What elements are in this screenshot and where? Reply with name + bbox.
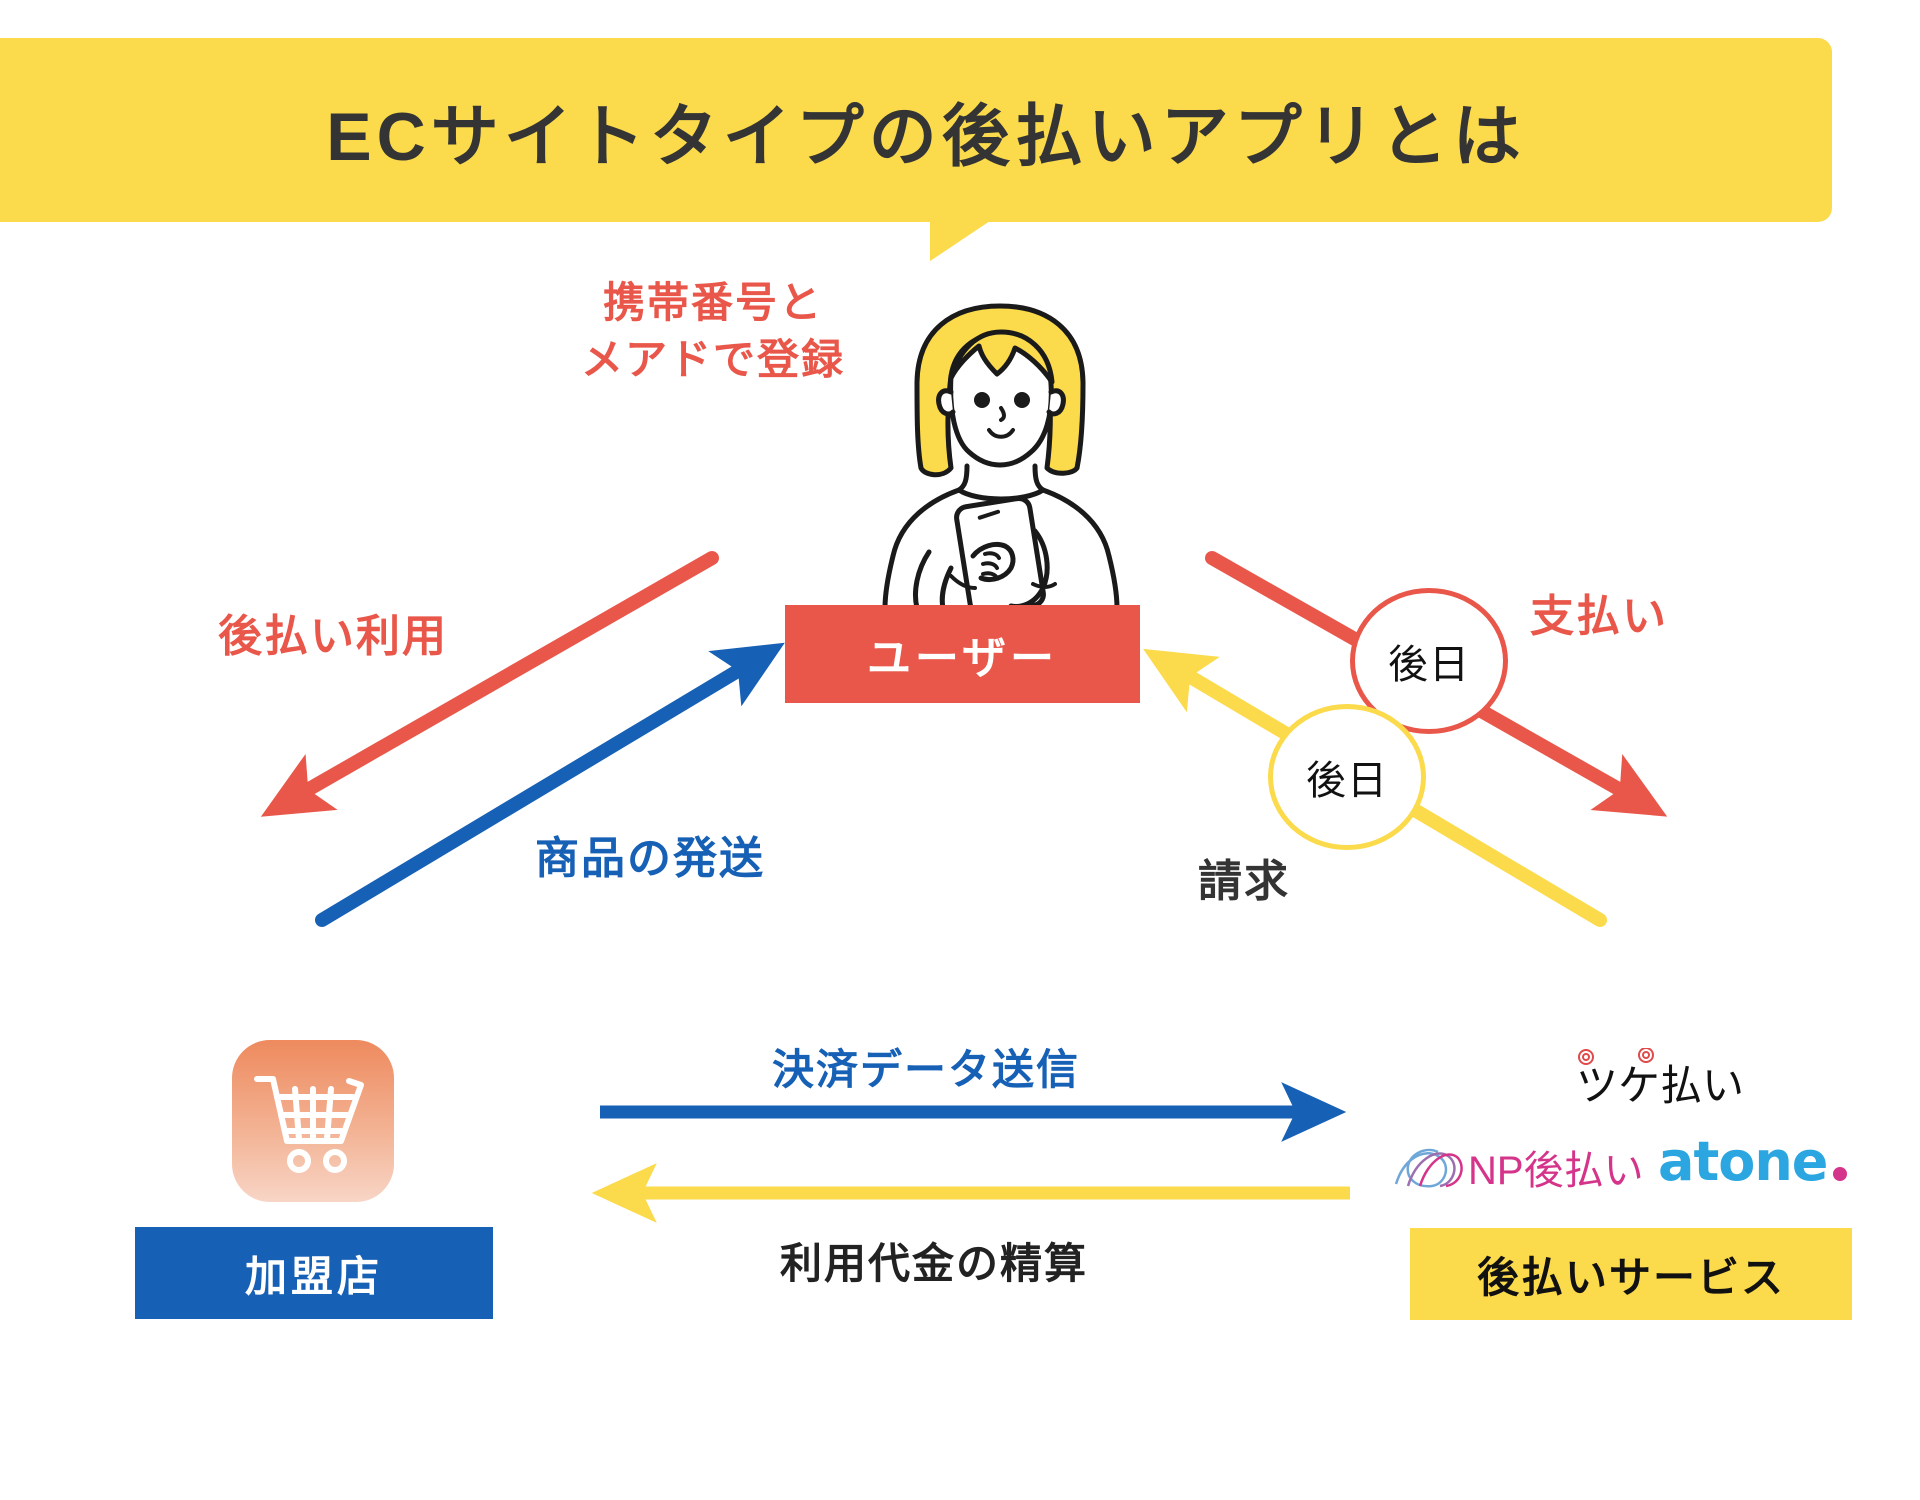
np-atobarai-logo: NP後払い xyxy=(1390,1136,1650,1198)
shopping-cart-icon xyxy=(253,1067,373,1175)
title-banner: ECサイトタイプの後払いアプリとは xyxy=(0,38,1832,222)
page-title: ECサイトタイプの後払いアプリとは xyxy=(0,38,1832,222)
flow-label-kouharai-riyou: 後払い利用 xyxy=(218,600,448,664)
user-node-box: ユーザー xyxy=(785,605,1140,703)
flow-label-kessai-data: 決済データ送信 xyxy=(772,1036,1080,1097)
flow-label-shouhin-hassou: 商品の発送 xyxy=(535,822,765,886)
diagram-canvas: ECサイトタイプの後払いアプリとは xyxy=(0,0,1920,1500)
arrow-kouharai-riyou xyxy=(290,558,712,800)
np-atobarai-logo-text: NP後払い xyxy=(1468,1149,1644,1193)
register-note-line1: 携帯番号と xyxy=(548,275,878,332)
flow-label-shiharai: 支払い xyxy=(1530,580,1668,644)
merchant-node-label: 加盟店 xyxy=(245,1243,383,1304)
register-note-line2: メアドで登録 xyxy=(548,332,878,389)
service-node-box: 後払いサービス xyxy=(1410,1228,1852,1320)
user-node-label: ユーザー xyxy=(867,622,1058,686)
register-note: 携帯番号と メアドで登録 xyxy=(548,275,878,388)
woman-with-smartphone-illustration xyxy=(855,288,1145,608)
atone-logo: atone xyxy=(1658,1128,1858,1194)
atone-logo-dot xyxy=(1833,1167,1847,1181)
service-node-label: 後払いサービス xyxy=(1477,1244,1785,1305)
shopping-cart-app-icon xyxy=(232,1040,394,1202)
banner-pointer-triangle xyxy=(930,221,990,261)
merchant-node-box: 加盟店 xyxy=(135,1227,493,1319)
flow-label-seikyu: 請求 xyxy=(1198,845,1290,909)
badge-gogo-yellow: 後日 xyxy=(1268,704,1426,850)
flow-label-riyou-daikin: 利用代金の精算 xyxy=(780,1230,1088,1291)
atone-logo-text: atone xyxy=(1658,1130,1827,1193)
tsuke-barai-logo: ツケ払い xyxy=(1540,1048,1780,1114)
tsuke-barai-logo-text: ツケ払い xyxy=(1576,1061,1744,1110)
